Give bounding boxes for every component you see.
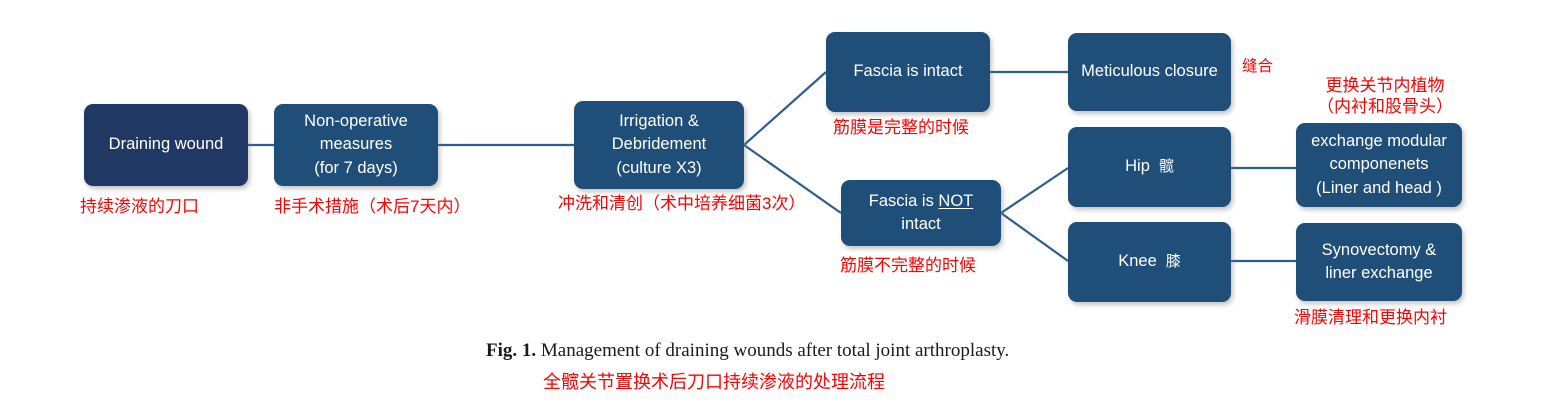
node-synovectomy-line2: liner exchange bbox=[1304, 263, 1454, 284]
node-irrigation-line2: Debridement bbox=[582, 134, 736, 155]
annotation-meticulous-closure: 缝合 bbox=[1242, 58, 1273, 77]
annotation-fascia-intact: 筋膜是完整的时候 bbox=[833, 118, 969, 139]
figure-canvas: Draining wound Non-operative measures (f… bbox=[0, 0, 1548, 410]
node-knee-cjk: 膝 bbox=[1166, 253, 1181, 270]
node-exchange-modular-line1: exchange modular bbox=[1304, 131, 1454, 152]
annotation-fascia-not-intact: 筋膜不完整的时候 bbox=[840, 256, 976, 277]
node-meticulous-closure[interactable]: Meticulous closure bbox=[1068, 33, 1231, 111]
node-meticulous-closure-line1: Meticulous closure bbox=[1076, 61, 1223, 82]
node-exchange-modular-components[interactable]: exchange modular componenets (Liner and … bbox=[1296, 123, 1462, 207]
node-irrigation-debridement[interactable]: Irrigation & Debridement (culture X3) bbox=[574, 101, 744, 189]
node-fascia-is-intact[interactable]: Fascia is intact bbox=[826, 32, 990, 112]
node-hip-line1: Hip髋 bbox=[1076, 156, 1223, 177]
node-fascia-not-intact-pre: Fascia is bbox=[869, 192, 939, 210]
figure-caption-chinese: 全髋关节置换术后刀口持续渗液的处理流程 bbox=[543, 368, 885, 394]
annotation-exchange-modular-line1: 更换关节内植物 bbox=[1326, 76, 1445, 95]
node-draining-wound-line1: Draining wound bbox=[92, 134, 240, 155]
node-exchange-modular-line3: (Liner and head ) bbox=[1304, 178, 1454, 199]
node-fascia-is-not-intact[interactable]: Fascia is NOT intact bbox=[841, 180, 1001, 246]
node-synovectomy-liner-exchange[interactable]: Synovectomy & liner exchange bbox=[1296, 223, 1462, 301]
node-non-operative-line3: (for 7 days) bbox=[282, 158, 430, 179]
node-irrigation-line3: (culture X3) bbox=[582, 158, 736, 179]
node-hip-label: Hip bbox=[1125, 157, 1150, 175]
annotation-draining-wound: 持续渗液的刀口 bbox=[80, 197, 199, 218]
node-fascia-not-intact-line2: intact bbox=[849, 214, 993, 235]
figure-caption-text: Management of draining wounds after tota… bbox=[541, 340, 1009, 361]
node-fascia-intact-line1: Fascia is intact bbox=[834, 61, 982, 82]
node-knee-label: Knee bbox=[1118, 252, 1157, 270]
annotation-exchange-modular: 更换关节内植物 （内衬和股骨头） bbox=[1305, 76, 1465, 117]
annotation-non-operative: 非手术措施（术后7天内） bbox=[274, 197, 470, 218]
node-synovectomy-line1: Synovectomy & bbox=[1304, 240, 1454, 261]
node-knee[interactable]: Knee膝 bbox=[1068, 222, 1231, 302]
node-fascia-not-intact-emphasis: NOT bbox=[938, 192, 973, 210]
node-exchange-modular-line2: componenets bbox=[1304, 154, 1454, 175]
node-hip[interactable]: Hip髋 bbox=[1068, 127, 1231, 207]
figure-caption-label: Fig. 1. bbox=[486, 340, 536, 361]
annotation-synovectomy: 滑膜清理和更换内衬 bbox=[1294, 308, 1447, 329]
annotation-exchange-modular-line2: （内衬和股骨头） bbox=[1317, 97, 1453, 116]
node-non-operative-measures[interactable]: Non-operative measures (for 7 days) bbox=[274, 104, 438, 186]
node-knee-line1: Knee膝 bbox=[1076, 251, 1223, 272]
node-irrigation-line1: Irrigation & bbox=[582, 111, 736, 132]
node-non-operative-line1: Non-operative bbox=[282, 111, 430, 132]
node-draining-wound[interactable]: Draining wound bbox=[84, 104, 248, 186]
figure-caption: Fig. 1. Management of draining wounds af… bbox=[486, 340, 1009, 362]
annotation-irrigation: 冲洗和清创（术中培养细菌3次） bbox=[558, 194, 805, 215]
node-fascia-not-intact-line1: Fascia is NOT bbox=[849, 191, 993, 212]
node-non-operative-line2: measures bbox=[282, 134, 430, 155]
node-hip-cjk: 髋 bbox=[1159, 158, 1174, 175]
